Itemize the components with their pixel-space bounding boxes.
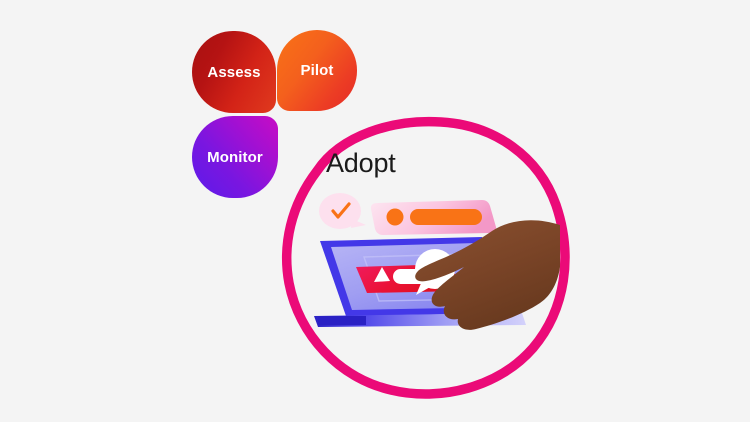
stage-chip-assess[interactable]: Assess <box>192 31 276 113</box>
page-title: Adopt <box>326 148 396 179</box>
notification-card <box>371 200 496 235</box>
stage-chip-assess-label: Assess <box>207 64 260 81</box>
card-dot-icon <box>387 209 404 226</box>
illustration-canvas: Assess Pilot Monitor Adopt <box>0 0 750 422</box>
laptop-trackpad <box>318 316 366 325</box>
stage-chip-monitor-label: Monitor <box>207 149 263 166</box>
small-approval-bubble <box>319 193 366 229</box>
stage-chip-pilot-label: Pilot <box>301 62 334 79</box>
card-bar <box>410 209 482 225</box>
stage-chip-monitor[interactable]: Monitor <box>192 116 278 198</box>
adopt-illustration <box>300 185 560 345</box>
stage-chip-pilot[interactable]: Pilot <box>277 30 357 111</box>
